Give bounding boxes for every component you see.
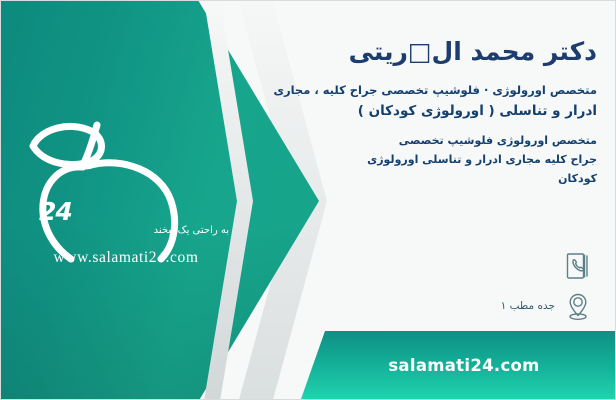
contact-row-phone[interactable]: [373, 249, 593, 283]
footer-site-text: salamati24.com: [388, 356, 539, 375]
specialty-line-4: جراح کلیه مجاری ادرار و تناسلی اورولوژی: [267, 150, 597, 169]
specialty-line-1: متخصص اورولوژی · فلوشیپ تخصصی جراح کلیه …: [267, 81, 597, 100]
doctor-name: دکتر محمد ال□ریتی: [267, 35, 597, 69]
logo-tagline: به راحتی یک لبخند: [109, 225, 229, 236]
specialty-line-3: متخصص اورولوژی فلوشیپ تخصصی: [267, 131, 597, 150]
contact-block: جده مطب ۱: [373, 249, 593, 329]
location-pin-icon[interactable]: [563, 289, 593, 323]
specialty-line-5: کودکان: [267, 169, 597, 188]
apple-outline-icon: [19, 109, 234, 269]
phone-book-icon[interactable]: [563, 249, 593, 283]
logo-badge-24: 24: [39, 197, 72, 226]
doctor-info-block: دکتر محمد ال□ریتی متخصص اورولوژی · فلوشی…: [267, 35, 597, 189]
specialty-secondary-block: متخصص اورولوژی فلوشیپ تخصصی جراح کلیه مج…: [267, 131, 597, 189]
logo-url: www.salamati24.com: [21, 249, 231, 267]
business-card: 24 به راحتی یک لبخند www.salamati24.com …: [0, 0, 616, 400]
contact-row-location[interactable]: جده مطب ۱: [373, 289, 593, 323]
location-label: جده مطب ۱: [501, 300, 555, 312]
specialty-line-2: ادرار و تناسلی ( اورولوژی کودکان ): [267, 100, 597, 122]
footer-bar[interactable]: salamati24.com: [301, 331, 616, 399]
